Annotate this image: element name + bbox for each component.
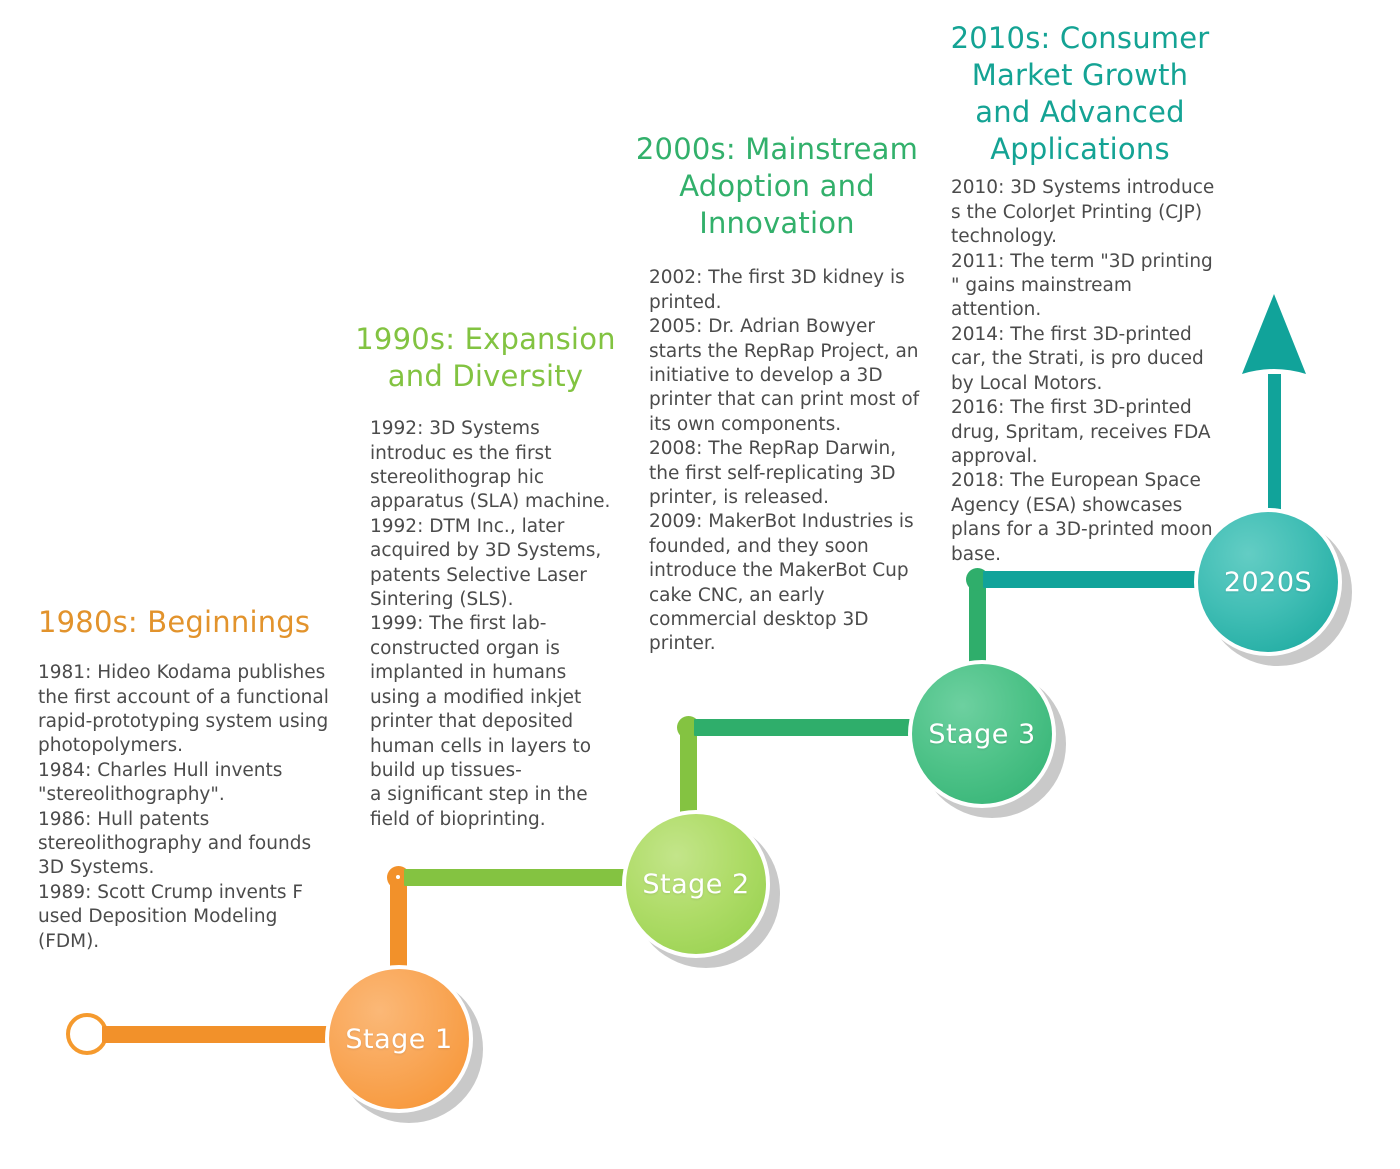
stage-heading-1980s: 1980s: Beginnings (38, 604, 338, 641)
node-2020s[interactable]: 2020S (1194, 508, 1342, 656)
stage-text-1980s: 1980s: Beginnings 1981: Hideo Kodama pub… (38, 604, 338, 954)
stage-body-2010s: 2010: 3D Systems introduce s the ColorJe… (951, 176, 1220, 567)
connector-stage2-to-stage3 (694, 719, 928, 736)
stage-text-2010s: 2010s: Consumer Market Growth and Advanc… (940, 20, 1220, 567)
node-stage-3[interactable]: Stage 3 (908, 660, 1056, 808)
stage-text-1990s: 1990s: Expansion and Diversity 1992: 3D … (353, 321, 618, 832)
node-label-stage-1: Stage 1 (325, 965, 473, 1113)
stage-heading-1990s: 1990s: Expansion and Diversity (353, 321, 618, 395)
timeline-infographic: 1980s: Beginnings 1981: Hideo Kodama pub… (0, 0, 1400, 1169)
node-stage-2[interactable]: Stage 2 (622, 810, 770, 958)
stage-body-1980s: 1981: Hideo Kodama publishes the first a… (38, 661, 338, 954)
connector-stage1-to-stage2 (404, 869, 638, 886)
node-label-stage-2: Stage 2 (622, 810, 770, 958)
stage-body-1990s: 1992: 3D Systems introduc es the first s… (370, 417, 618, 832)
node-label-stage-3: Stage 3 (908, 660, 1056, 808)
stage-heading-2010s: 2010s: Consumer Market Growth and Advanc… (940, 20, 1220, 168)
connector-stage3-to-2020s (983, 571, 1217, 588)
connector-stage1-knob-dot (396, 875, 400, 879)
stage-text-2000s: 2000s: Mainstream Adoption and Innovatio… (634, 131, 920, 657)
stage-heading-2000s: 2000s: Mainstream Adoption and Innovatio… (634, 131, 920, 242)
node-label-2020s: 2020S (1194, 508, 1342, 656)
stage-body-2000s: 2002: The first 3D kidney is printed. 20… (649, 266, 920, 657)
node-stage-1[interactable]: Stage 1 (325, 965, 473, 1113)
